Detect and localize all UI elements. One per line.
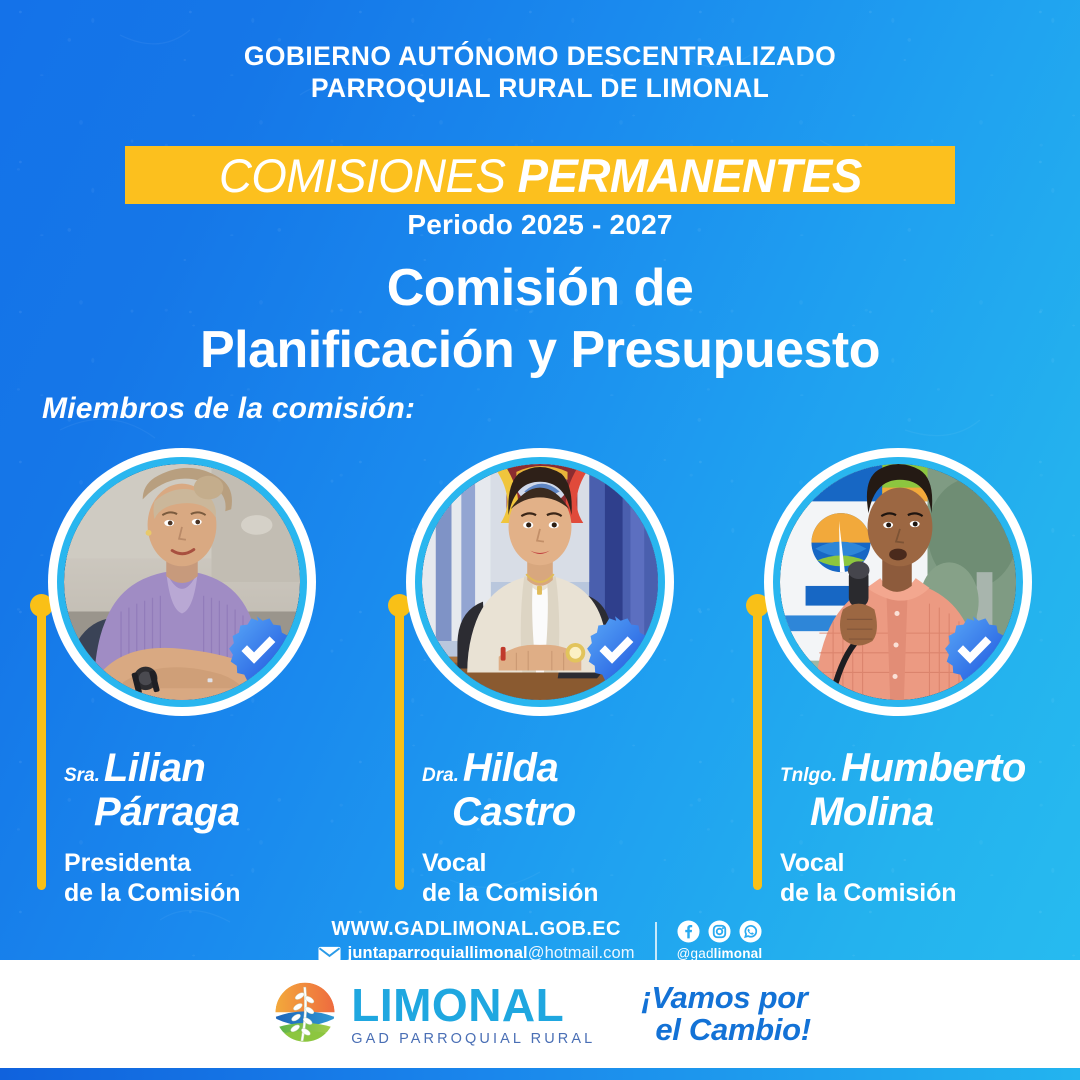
accent-line bbox=[37, 600, 46, 890]
brand-name: LIMONAL bbox=[351, 982, 595, 1028]
member-last-name: Párraga bbox=[64, 792, 346, 832]
brand-subtitle: GAD PARROQUIAL RURAL bbox=[351, 1032, 595, 1047]
photo-ring bbox=[415, 457, 665, 707]
members-list: Sra. Lilian Párraga Presidenta de la Com… bbox=[0, 448, 1080, 898]
member-card: Tnlgo. Humberto Molina Vocal de la Comis… bbox=[728, 448, 1068, 898]
accent-line bbox=[395, 600, 404, 890]
member-role: Vocal de la Comisión bbox=[422, 849, 704, 908]
member-info: Sra. Lilian Párraga Presidenta de la Com… bbox=[64, 748, 346, 908]
whatsapp-icon[interactable] bbox=[739, 920, 762, 943]
member-prefix: Dra. bbox=[422, 765, 459, 786]
brand-lockup: LIMONAL GAD PARROQUIAL RURAL bbox=[269, 980, 595, 1048]
slogan: ¡Vamos por el Cambio! bbox=[641, 982, 810, 1045]
contact-block: WWW.GADLIMONAL.GOB.EC juntaparroquiallim… bbox=[318, 918, 635, 963]
member-last-name: Molina bbox=[780, 792, 1062, 832]
poster-canvas: GOBIERNO AUTÓNOMO DESCENTRALIZADO PARROQ… bbox=[0, 0, 1080, 1080]
member-name: Tnlgo. Humberto Molina bbox=[780, 748, 1062, 832]
member-photo-frame bbox=[48, 448, 316, 716]
member-photo-frame bbox=[406, 448, 674, 716]
member-info: Tnlgo. Humberto Molina Vocal de la Comis… bbox=[780, 748, 1062, 908]
accent-line bbox=[753, 600, 762, 890]
facebook-icon[interactable] bbox=[677, 920, 700, 943]
member-photo-frame bbox=[764, 448, 1032, 716]
member-last-name: Castro bbox=[422, 792, 704, 832]
photo-ring bbox=[57, 457, 307, 707]
member-first-name: Hilda bbox=[463, 746, 558, 790]
footer-divider bbox=[655, 922, 657, 960]
social-block: @gadlimonal bbox=[677, 920, 763, 961]
period-label: Periodo 2025 - 2027 bbox=[0, 209, 1080, 241]
commissions-banner: COMISIONES PERMANENTES bbox=[125, 146, 955, 204]
member-role-line1: Vocal bbox=[422, 849, 704, 879]
limonal-emblem-icon bbox=[269, 980, 341, 1048]
member-role: Presidenta de la Comisión bbox=[64, 849, 346, 908]
handle-at: @gad bbox=[677, 946, 714, 961]
org-title-line2: PARROQUIAL RURAL DE LIMONAL bbox=[0, 72, 1080, 104]
footer-contact: WWW.GADLIMONAL.GOB.EC juntaparroquiallim… bbox=[0, 918, 1080, 963]
commission-title: Comisión de Planificación y Presupuesto bbox=[0, 262, 1080, 376]
member-name: Sra. Lilian Párraga bbox=[64, 748, 346, 832]
verified-badge-icon bbox=[936, 614, 1010, 688]
member-prefix: Tnlgo. bbox=[780, 765, 837, 786]
slogan-line1: ¡Vamos por bbox=[641, 982, 810, 1014]
members-label: Miembros de la comisión: bbox=[42, 392, 415, 426]
member-role-line1: Vocal bbox=[780, 849, 1062, 879]
social-handle: @gadlimonal bbox=[677, 946, 763, 961]
commission-title-line1: Comisión de bbox=[0, 262, 1080, 314]
member-card: Dra. Hilda Castro Vocal de la Comisión bbox=[370, 448, 710, 898]
handle-bold: limonal bbox=[714, 946, 763, 961]
member-info: Dra. Hilda Castro Vocal de la Comisión bbox=[422, 748, 704, 908]
member-role-line2: de la Comisión bbox=[780, 879, 1062, 909]
instagram-icon[interactable] bbox=[708, 920, 731, 943]
member-first-name: Humberto bbox=[841, 746, 1026, 790]
organization-title: GOBIERNO AUTÓNOMO DESCENTRALIZADO PARROQ… bbox=[0, 40, 1080, 105]
banner-word-light: COMISIONES bbox=[219, 149, 505, 202]
verified-badge-icon bbox=[220, 614, 294, 688]
member-name: Dra. Hilda Castro bbox=[422, 748, 704, 832]
member-card: Sra. Lilian Párraga Presidenta de la Com… bbox=[12, 448, 352, 898]
social-icons-row bbox=[677, 920, 763, 943]
commission-title-line2: Planificación y Presupuesto bbox=[0, 324, 1080, 376]
bottom-brand-bar: LIMONAL GAD PARROQUIAL RURAL ¡Vamos por … bbox=[0, 960, 1080, 1068]
slogan-line2: el Cambio! bbox=[641, 1014, 810, 1046]
member-role-line2: de la Comisión bbox=[422, 879, 704, 909]
org-title-line1: GOBIERNO AUTÓNOMO DESCENTRALIZADO bbox=[244, 41, 836, 71]
brand-text: LIMONAL GAD PARROQUIAL RURAL bbox=[351, 982, 595, 1047]
photo-ring bbox=[773, 457, 1023, 707]
member-role-line2: de la Comisión bbox=[64, 879, 346, 909]
banner-word-heavy: PERMANENTES bbox=[517, 149, 861, 202]
member-role: Vocal de la Comisión bbox=[780, 849, 1062, 908]
member-prefix: Sra. bbox=[64, 765, 100, 786]
bottom-color-strip bbox=[0, 1068, 1080, 1080]
website-link[interactable]: WWW.GADLIMONAL.GOB.EC bbox=[318, 918, 635, 941]
member-first-name: Lilian bbox=[104, 746, 205, 790]
banner-text: COMISIONES PERMANENTES bbox=[219, 152, 862, 199]
verified-badge-icon bbox=[578, 614, 652, 688]
member-role-line1: Presidenta bbox=[64, 849, 346, 879]
